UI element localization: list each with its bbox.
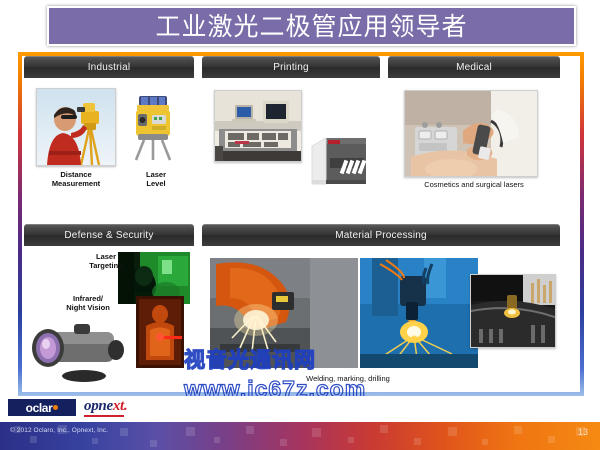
panel-printing-header: Printing: [202, 56, 380, 78]
opnext-logo-dot: .: [124, 398, 127, 414]
panel-industrial-body: Distance Measurement Laser Level: [24, 78, 194, 211]
opnext-logo-underline: opnext: [84, 398, 124, 417]
caption-line: Targeting: [76, 261, 136, 270]
photo-robot-welding: [210, 258, 358, 368]
caption-welding-marking-drilling: Welding, marking, drilling: [258, 374, 438, 383]
opnext-logo: opnext.: [84, 398, 127, 415]
oclaro-logo-text: oclar: [26, 401, 53, 415]
caption-line: Laser: [128, 170, 184, 179]
oclaro-logo: oclar: [8, 399, 76, 416]
panel-material-body: Welding, marking, drilling: [202, 246, 560, 389]
photo-laser-cutting-blue: [360, 258, 478, 368]
opnext-logo-text-b: xt: [113, 398, 124, 414]
caption-line: Measurement: [30, 179, 122, 188]
panel-industrial-title: Industrial: [88, 62, 131, 73]
caption-infrared-night-vision: Infrared/ Night Vision: [52, 294, 124, 313]
slide: 工业激光二极管应用领导者 Industrial: [0, 0, 600, 450]
panel-medical-header: Medical: [388, 56, 560, 78]
slide-title-banner: 工业激光二极管应用领导者: [47, 6, 576, 46]
panel-defense-header: Defense & Security: [24, 224, 194, 246]
panel-printing-title: Printing: [273, 62, 309, 73]
photo-night-vision-scope: [28, 318, 132, 384]
caption-line: Level: [128, 179, 184, 188]
panel-medical[interactable]: Medical: [388, 56, 560, 211]
panel-medical-title: Medical: [456, 62, 492, 73]
photo-thermal-target: [136, 296, 184, 368]
caption-cosmetics-surgical-lasers: Cosmetics and surgical lasers: [396, 180, 552, 189]
opnext-logo-text-a: opne: [84, 398, 113, 414]
panel-industrial-header: Industrial: [24, 56, 194, 78]
panel-printing-body: [202, 78, 380, 211]
panel-industrial[interactable]: Industrial: [24, 56, 194, 211]
page-title: 工业激光二极管应用领导者: [155, 14, 467, 39]
panel-material-header: Material Processing: [202, 224, 560, 246]
panel-defense-body: Laser Targeting Infrared/ Night Vision: [24, 246, 194, 389]
caption-line: Night Vision: [52, 303, 124, 312]
oclaro-logo-dot: [53, 405, 58, 410]
photo-rotary-laser-level: [124, 88, 182, 164]
photo-surveyor-theodolite: [36, 88, 116, 166]
caption-line: Laser: [76, 252, 136, 261]
caption-laser-targeting: Laser Targeting: [76, 252, 136, 271]
panel-defense-security[interactable]: Defense & Security: [24, 224, 194, 389]
panel-material-processing[interactable]: Material Processing: [202, 224, 560, 389]
photo-printing-machine: [306, 130, 372, 192]
copyright-text: © 2012 Oclaro, Inc., Opnext, Inc.: [10, 427, 108, 434]
page-number: 13: [578, 427, 588, 437]
caption-line: Infrared/: [52, 294, 124, 303]
caption-line: Distance: [30, 170, 122, 179]
panel-medical-body: Cosmetics and surgical lasers: [388, 78, 560, 211]
photo-sheet-metal-cutting: [470, 274, 556, 348]
photo-cosmetic-laser-treatment: [404, 90, 538, 177]
caption-laser-level: Laser Level: [128, 170, 184, 189]
panel-printing[interactable]: Printing: [202, 56, 380, 211]
caption-distance-measurement: Distance Measurement: [30, 170, 122, 189]
panel-defense-title: Defense & Security: [64, 230, 153, 241]
panel-material-title: Material Processing: [335, 230, 427, 241]
photo-prepress-workstation: [214, 90, 302, 162]
